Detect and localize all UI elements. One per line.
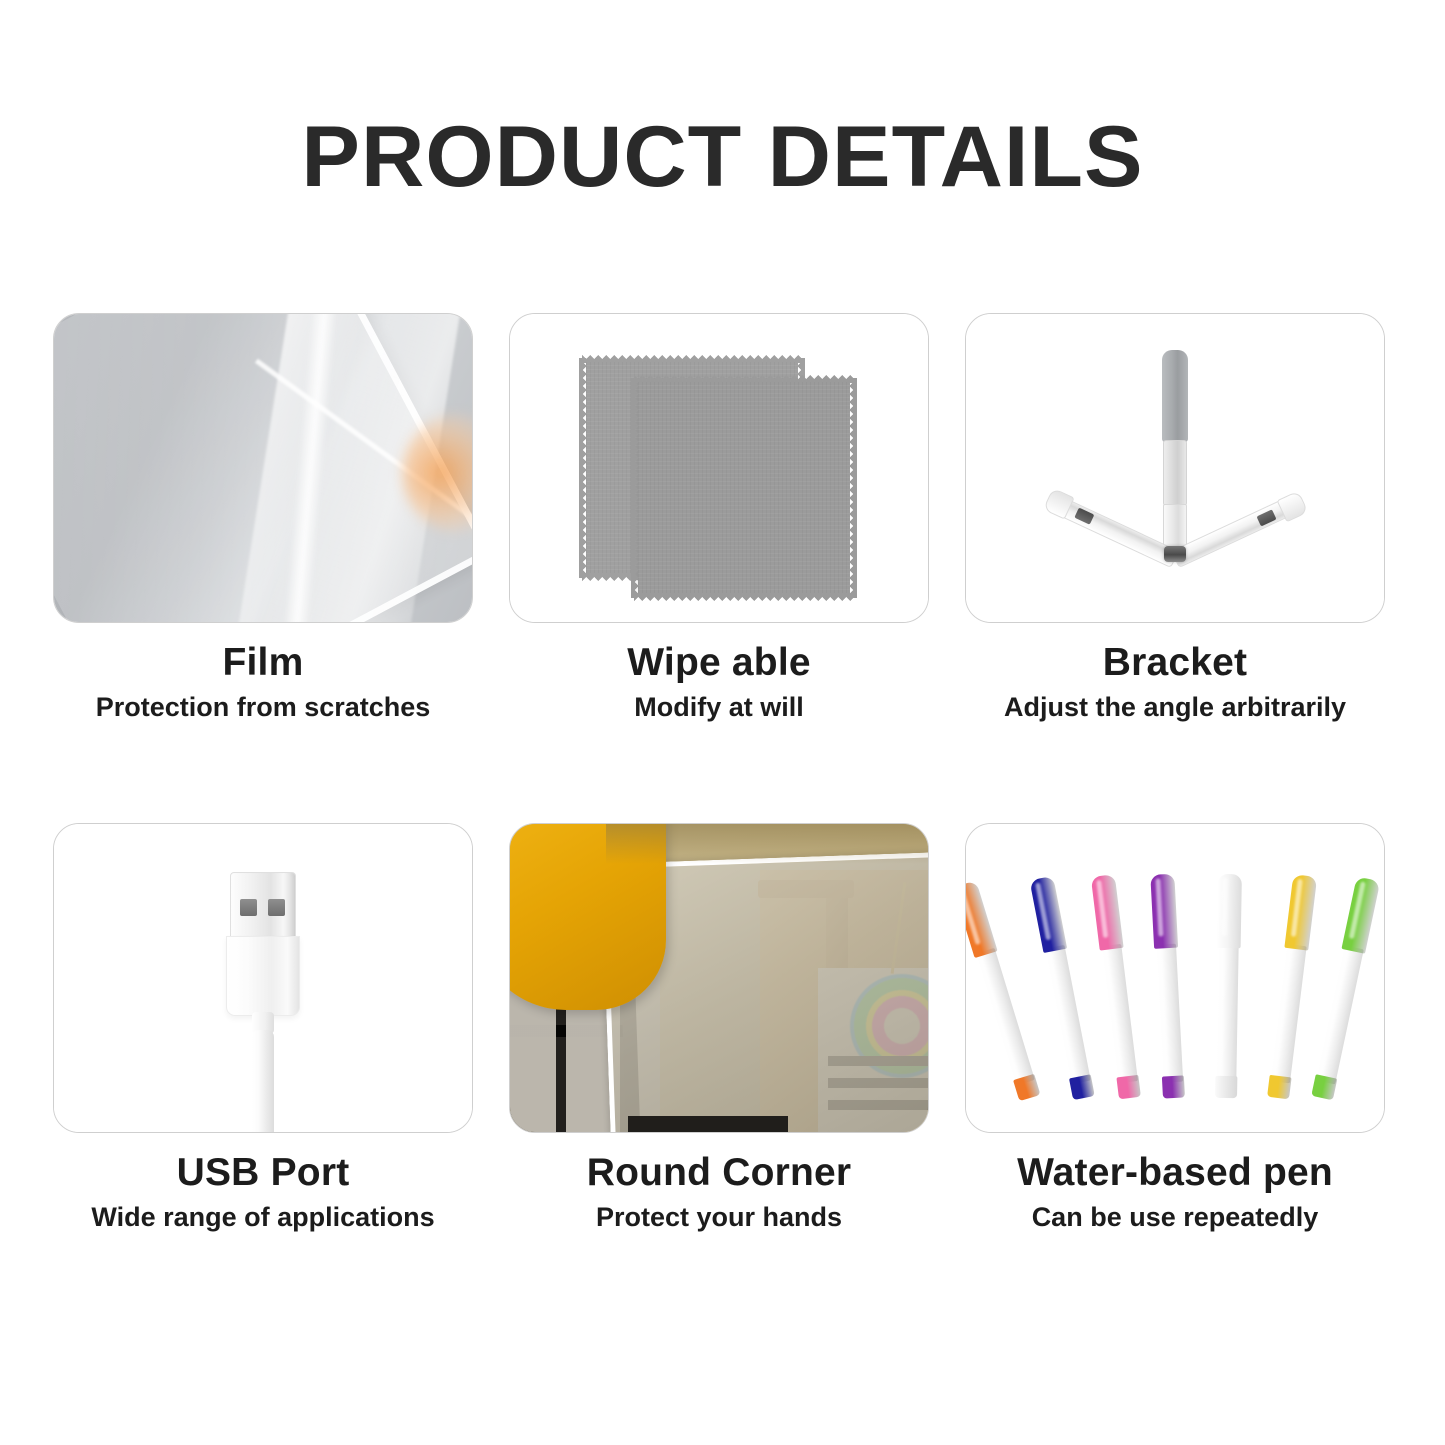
feature-image-film <box>53 313 473 623</box>
bracket-right-leg-icon <box>1171 495 1299 568</box>
pen-cap-4 <box>1150 874 1178 949</box>
feature-image-bracket <box>965 313 1385 623</box>
feature-cell-film: Film Protection from scratches <box>53 313 473 723</box>
usb-background <box>54 824 472 1132</box>
feature-subtitle-bracket: Adjust the angle arbitrarily <box>965 692 1385 723</box>
bracket-left-leg-icon <box>1051 495 1179 568</box>
pen-endcap-2 <box>1069 1074 1095 1100</box>
pen-cap-gloss-3 <box>1096 880 1108 938</box>
feature-subtitle-wipe-able: Modify at will <box>509 692 929 723</box>
feature-caption-bracket: Bracket Adjust the angle arbitrarily <box>965 641 1385 723</box>
pen-endcap-4 <box>1162 1075 1185 1098</box>
usb-slot-right <box>268 899 285 916</box>
feature-image-wipe-able <box>509 313 929 623</box>
pen-1 <box>965 880 1041 1101</box>
pen-cap-gloss-6 <box>1291 879 1303 937</box>
bracket-hinge-icon <box>1164 546 1186 562</box>
product-details-page: PRODUCT DETAILS Film Protection from scr… <box>0 0 1445 1445</box>
feature-cell-wipe-able: Wipe able Modify at will <box>509 313 929 723</box>
pen-cap-3 <box>1091 874 1124 950</box>
pen-barrel-6 <box>1270 944 1307 1083</box>
feature-title-film: Film <box>53 641 473 686</box>
feature-grid: Film Protection from scratches Wipe able… <box>53 313 1385 1233</box>
pen-barrel-7 <box>1316 945 1364 1084</box>
feature-caption-water-based-pen: Water-based pen Can be use repeatedly <box>965 1151 1385 1233</box>
pen-barrel-4 <box>1156 944 1183 1083</box>
pen-endcap-7 <box>1311 1074 1337 1100</box>
pen-cap-gloss-7 <box>1349 881 1366 939</box>
pen-4 <box>1150 874 1186 1099</box>
microfiber-cloth-front-icon <box>638 382 850 594</box>
usb-slot-left <box>240 899 257 916</box>
pen-cap-gloss-1 <box>965 888 981 945</box>
pen-2 <box>1029 876 1095 1100</box>
pen-cap-1 <box>965 880 998 958</box>
pen-cap-gloss-2 <box>1035 882 1051 940</box>
feature-caption-usb-port: USB Port Wide range of applications <box>53 1151 473 1233</box>
feature-subtitle-usb-port: Wide range of applications <box>53 1202 473 1233</box>
feature-image-usb-port <box>53 823 473 1133</box>
feature-cell-bracket: Bracket Adjust the angle arbitrarily <box>965 313 1385 723</box>
pen-7 <box>1310 876 1380 1100</box>
feature-subtitle-film: Protection from scratches <box>53 692 473 723</box>
pen-barrel-2 <box>1045 945 1091 1084</box>
cloth-background <box>510 314 928 622</box>
pen-barrel-3 <box>1101 944 1138 1083</box>
pen-cap-7 <box>1341 876 1380 953</box>
pen-endcap-3 <box>1116 1075 1141 1100</box>
feature-title-bracket: Bracket <box>965 641 1385 686</box>
pen-cap-5 <box>1217 874 1242 948</box>
pen-cap-gloss-5 <box>1222 878 1228 936</box>
feature-subtitle-round-corner: Protect your hands <box>509 1202 929 1233</box>
pen-barrel-5 <box>1216 944 1238 1082</box>
pen-endcap-6 <box>1267 1075 1292 1100</box>
usb-connector-icon <box>230 872 296 940</box>
pen-set-icon <box>966 824 1384 1132</box>
round-corner-photo <box>510 824 928 1132</box>
feature-title-wipe-able: Wipe able <box>509 641 929 686</box>
feature-subtitle-water-based-pen: Can be use repeatedly <box>965 1202 1385 1233</box>
feature-image-water-based-pen <box>965 823 1385 1133</box>
feature-image-round-corner <box>509 823 929 1133</box>
pen-endcap-5 <box>1215 1076 1237 1098</box>
feature-title-usb-port: USB Port <box>53 1151 473 1196</box>
feature-cell-water-based-pen: Water-based pen Can be use repeatedly <box>965 823 1385 1233</box>
board-bottom-edge <box>628 1116 788 1132</box>
feature-caption-round-corner: Round Corner Protect your hands <box>509 1151 929 1233</box>
pen-barrel-1 <box>975 948 1034 1086</box>
feature-title-water-based-pen: Water-based pen <box>965 1151 1385 1196</box>
bracket-upper-arm-icon <box>1162 350 1188 442</box>
pen-cap-2 <box>1029 876 1067 953</box>
feature-title-round-corner: Round Corner <box>509 1151 929 1196</box>
feature-cell-usb-port: USB Port Wide range of applications <box>53 823 473 1233</box>
usb-housing-icon <box>226 936 300 1016</box>
page-title: PRODUCT DETAILS <box>0 108 1445 207</box>
bracket-background <box>966 314 1384 622</box>
pen-cap-6 <box>1284 874 1317 950</box>
feature-caption-wipe-able: Wipe able Modify at will <box>509 641 929 723</box>
bracket-middle-arm-icon <box>1163 440 1187 506</box>
usb-cable-icon <box>252 1030 274 1133</box>
feature-caption-film: Film Protection from scratches <box>53 641 473 723</box>
pen-endcap-1 <box>1013 1074 1040 1101</box>
pen-3 <box>1091 874 1142 1099</box>
pen-5 <box>1214 874 1242 1098</box>
photo-top-shading <box>606 824 928 864</box>
feature-cell-round-corner: Round Corner Protect your hands <box>509 823 929 1233</box>
pen-cap-gloss-4 <box>1155 878 1163 936</box>
pen-6 <box>1266 874 1317 1099</box>
